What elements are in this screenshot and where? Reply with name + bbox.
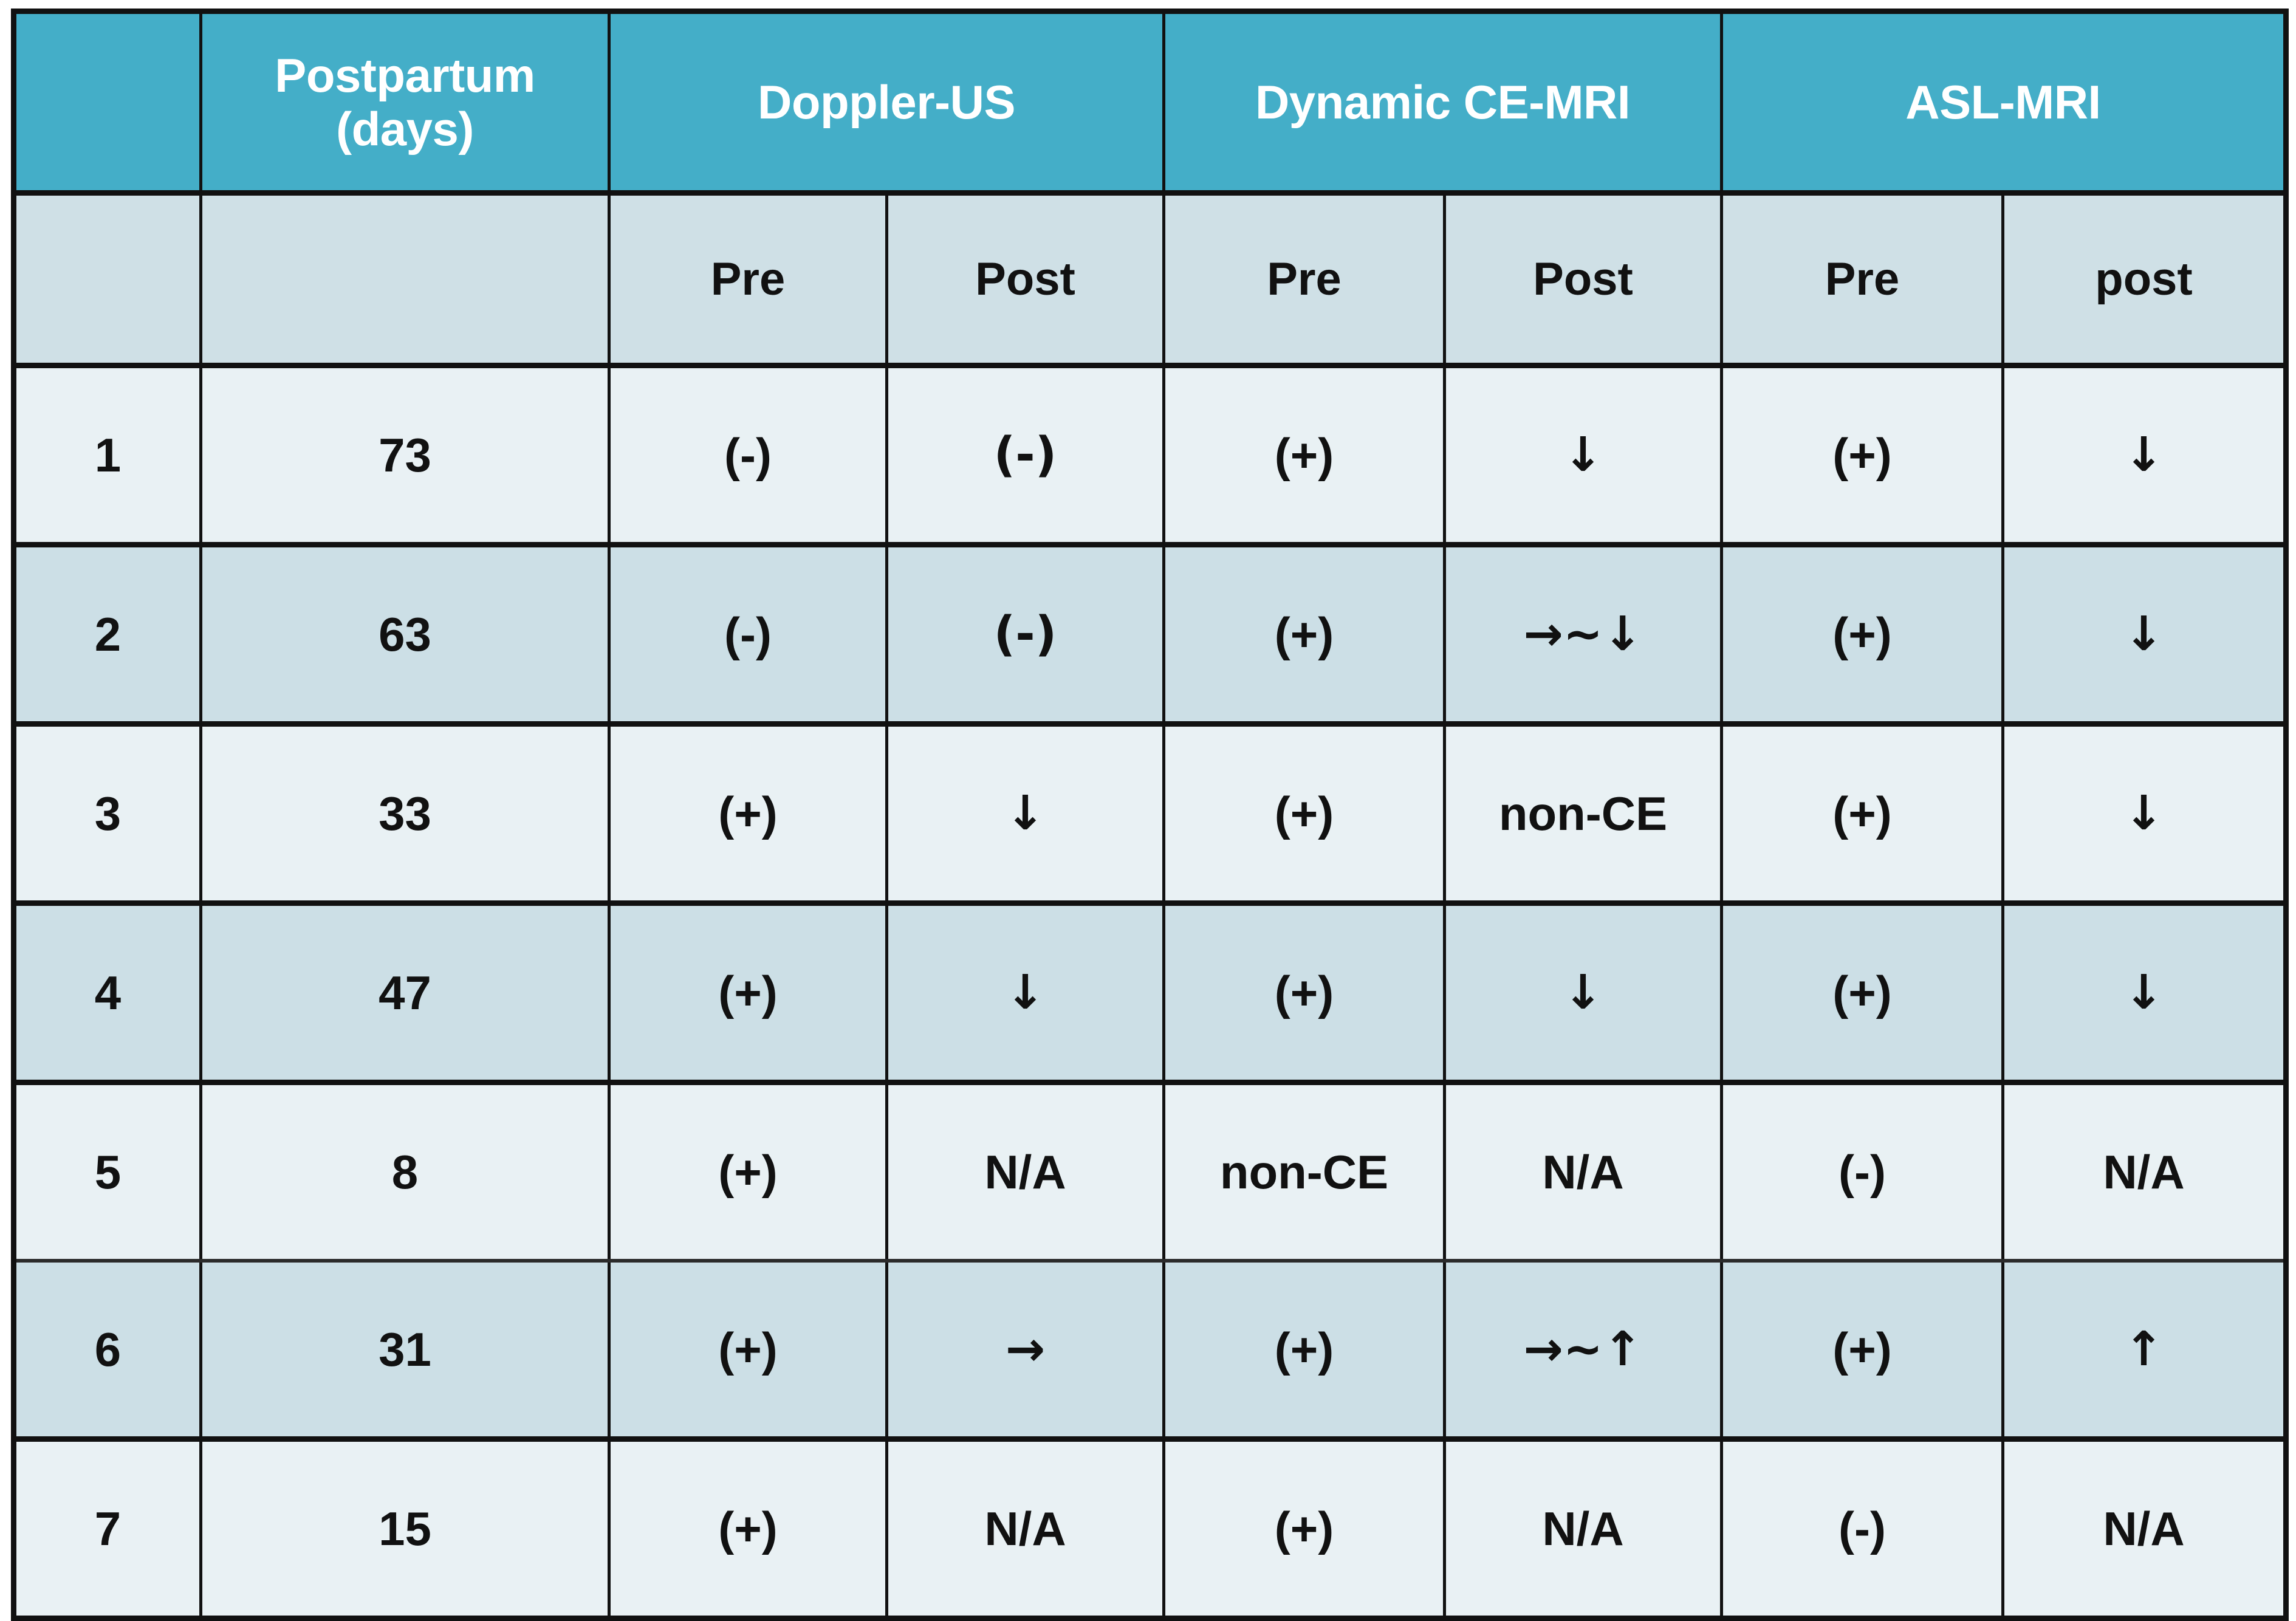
sub-header-blank-postpartum: [201, 193, 609, 366]
cell-doppler-pre: (+): [609, 903, 887, 1083]
cell-case: 2: [14, 545, 201, 724]
cell-doppler-post: (-): [887, 545, 1164, 724]
sub-header-doppler-pre: Pre: [609, 193, 887, 366]
cell-postpartum-days: 15: [201, 1439, 609, 1619]
table-row: 3 33 (+) ↓ (+) non-CE (+) ↓: [14, 724, 2286, 903]
cell-asl-post: N/A: [2003, 1439, 2286, 1619]
cell-postpartum-days: 8: [201, 1083, 609, 1261]
cell-postpartum-days: 33: [201, 724, 609, 903]
cell-asl-post: N/A: [2003, 1083, 2286, 1261]
group-header-doppler-us: Doppler-US: [609, 12, 1164, 193]
cell-asl-post: ↓: [2003, 545, 2286, 724]
cell-cemri-pre: (+): [1164, 545, 1445, 724]
cell-doppler-post: ↓: [887, 903, 1164, 1083]
sub-header-asl-pre: Pre: [1722, 193, 2003, 366]
sub-header-cemri-post: Post: [1445, 193, 1722, 366]
results-table-container: Postpartum (days) Doppler-US Dynamic CE-…: [11, 9, 2283, 1552]
cell-cemri-post: non-CE: [1445, 724, 1722, 903]
cell-cemri-post: N/A: [1445, 1439, 1722, 1619]
cell-doppler-pre: (-): [609, 366, 887, 545]
cell-postpartum-days: 31: [201, 1261, 609, 1439]
cell-doppler-pre: (-): [609, 545, 887, 724]
cell-case: 7: [14, 1439, 201, 1619]
cell-doppler-pre: (+): [609, 1083, 887, 1261]
cell-doppler-post: →: [887, 1261, 1164, 1439]
cell-asl-pre: (+): [1722, 1261, 2003, 1439]
table-row: 6 31 (+) → (+) →~↑ (+) ↑: [14, 1261, 2286, 1439]
sub-header-cemri-pre: Pre: [1164, 193, 1445, 366]
cell-cemri-pre: (+): [1164, 724, 1445, 903]
cell-asl-pre: (+): [1722, 903, 2003, 1083]
sub-header-blank-case: [14, 193, 201, 366]
cell-case: 3: [14, 724, 201, 903]
cell-cemri-pre: non-CE: [1164, 1083, 1445, 1261]
table-head: Postpartum (days) Doppler-US Dynamic CE-…: [14, 12, 2286, 366]
table-row: 2 63 (-) (-) (+) →~↓ (+) ↓: [14, 545, 2286, 724]
cell-postpartum-days: 63: [201, 545, 609, 724]
cell-asl-pre: (-): [1722, 1083, 2003, 1261]
cell-asl-post: ↓: [2003, 903, 2286, 1083]
table-row: 7 15 (+) N/A (+) N/A (-) N/A: [14, 1439, 2286, 1619]
cell-postpartum-days: 73: [201, 366, 609, 545]
cell-doppler-post: N/A: [887, 1439, 1164, 1619]
group-header-case: [14, 12, 201, 193]
group-header-dynamic-ce-mri: Dynamic CE-MRI: [1164, 12, 1722, 193]
cell-cemri-post: ↓: [1445, 903, 1722, 1083]
cell-case: 5: [14, 1083, 201, 1261]
cell-asl-pre: (+): [1722, 724, 2003, 903]
cell-asl-pre: (-): [1722, 1439, 2003, 1619]
cell-cemri-post: →~↓: [1445, 545, 1722, 724]
cell-asl-post: ↑: [2003, 1261, 2286, 1439]
sub-header-asl-post: post: [2003, 193, 2286, 366]
cell-doppler-pre: (+): [609, 1261, 887, 1439]
cell-cemri-post: →~↑: [1445, 1261, 1722, 1439]
cell-cemri-pre: (+): [1164, 1261, 1445, 1439]
cell-doppler-pre: (+): [609, 1439, 887, 1619]
cell-doppler-pre: (+): [609, 724, 887, 903]
table-body: 1 73 (-) (-) (+) ↓ (+) ↓ 2 63 (-) (-) (+…: [14, 366, 2286, 1619]
cell-doppler-post: (-): [887, 366, 1164, 545]
cell-doppler-post: ↓: [887, 724, 1164, 903]
cell-cemri-pre: (+): [1164, 1439, 1445, 1619]
cell-cemri-pre: (+): [1164, 903, 1445, 1083]
cell-cemri-post: ↓: [1445, 366, 1722, 545]
cell-case: 4: [14, 903, 201, 1083]
sub-header-row: Pre Post Pre Post Pre post: [14, 193, 2286, 366]
cell-asl-post: ↓: [2003, 724, 2286, 903]
group-header-row: Postpartum (days) Doppler-US Dynamic CE-…: [14, 12, 2286, 193]
cell-case: 1: [14, 366, 201, 545]
cell-asl-pre: (+): [1722, 545, 2003, 724]
cell-asl-post: ↓: [2003, 366, 2286, 545]
cell-asl-pre: (+): [1722, 366, 2003, 545]
cell-doppler-post: N/A: [887, 1083, 1164, 1261]
table-row: 1 73 (-) (-) (+) ↓ (+) ↓: [14, 366, 2286, 545]
results-table: Postpartum (days) Doppler-US Dynamic CE-…: [11, 9, 2289, 1621]
table-row: 5 8 (+) N/A non-CE N/A (-) N/A: [14, 1083, 2286, 1261]
table-row: 4 47 (+) ↓ (+) ↓ (+) ↓: [14, 903, 2286, 1083]
cell-postpartum-days: 47: [201, 903, 609, 1083]
cell-cemri-pre: (+): [1164, 366, 1445, 545]
group-header-asl-mri: ASL-MRI: [1722, 12, 2286, 193]
sub-header-doppler-post: Post: [887, 193, 1164, 366]
group-header-postpartum: Postpartum (days): [201, 12, 609, 193]
cell-case: 6: [14, 1261, 201, 1439]
cell-cemri-post: N/A: [1445, 1083, 1722, 1261]
